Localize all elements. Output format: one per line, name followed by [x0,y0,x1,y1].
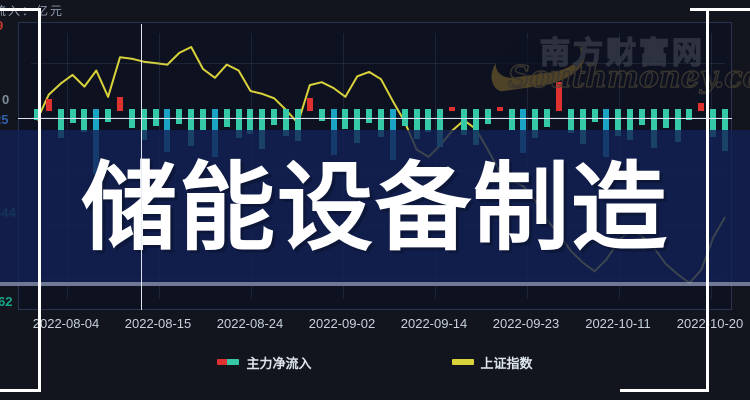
y-axis-label-1: 0 [2,92,9,107]
bar[interactable] [449,107,455,111]
legend-marker-index-icon [452,359,474,365]
bar[interactable] [70,109,76,123]
frame-bottom-right-h [620,389,709,392]
bar[interactable] [319,109,325,121]
bar[interactable] [105,109,111,122]
x-axis-tick-label: 2022-08-04 [33,316,100,331]
x-axis-tick-label: 2022-08-24 [217,316,284,331]
frame-left-v [38,8,41,392]
bar[interactable] [366,109,372,123]
frame-top-left-h [0,8,40,11]
y-axis-label-0: 9 [0,18,3,33]
bar[interactable] [46,99,52,111]
legend-item-inflow[interactable]: 主力净流入 [217,353,311,372]
bar[interactable] [176,109,182,124]
x-axis-tick-label: 2022-10-11 [585,316,651,331]
banner-underline [0,282,750,286]
bar[interactable] [497,107,503,111]
bar[interactable] [556,82,562,111]
page-title: 储能设备制造 [0,144,750,272]
x-axis-tick-label: 2022-09-02 [309,316,376,331]
crosshair-vertical [141,24,142,310]
x-axis-tick-label: 2022-08-15 [125,316,192,331]
x-axis-tick-label: 2022-09-23 [493,316,560,331]
gridline-h-0 [31,63,725,64]
bar[interactable] [592,109,598,122]
bar[interactable] [509,109,515,130]
legend-label-inflow: 主力净流入 [246,353,311,372]
bar[interactable] [425,109,431,132]
legend-marker-inflow-icon [217,359,239,365]
frame-right-v [706,8,709,392]
bar[interactable] [117,97,123,111]
y-axis-label-2: 25 [0,112,8,127]
x-axis-tick-label: 2022-10-20 [677,316,744,331]
bar[interactable] [200,109,206,130]
screenshot-stage: 流入：亿元 9 0 25 644 62 2022-08-042022-08-15… [0,0,750,400]
x-axis: 2022-08-042022-08-152022-08-242022-09-02… [18,316,732,336]
bar[interactable] [307,98,313,111]
x-axis-tick-label: 2022-09-14 [401,316,468,331]
y-axis-label-4: 62 [0,294,12,309]
bar[interactable] [698,103,704,111]
crosshair-horizontal [18,118,732,119]
legend-label-index: 上证指数 [481,353,533,372]
chart-legend[interactable]: 主力净流入 上证指数 [0,352,750,372]
frame-top-right-h [690,8,750,11]
bar[interactable] [485,109,491,124]
bar[interactable] [81,109,87,132]
legend-item-index[interactable]: 上证指数 [452,353,533,372]
frame-bottom-left-h [0,389,40,392]
